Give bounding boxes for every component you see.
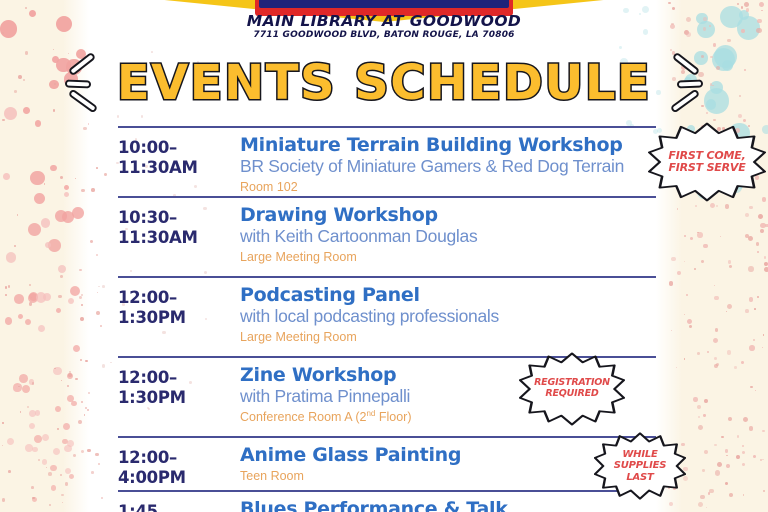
decorative-dot <box>87 409 88 410</box>
decorative-dot <box>742 463 745 466</box>
event-time: 10:30– 11:30AM <box>118 205 236 248</box>
library-address: 7711 GOODWOOD BLVD, BATON ROUGE, LA 7080… <box>0 30 768 40</box>
decorative-dot <box>749 426 754 431</box>
decorative-dot <box>67 395 74 402</box>
decorative-dot <box>96 311 100 315</box>
decorative-dot <box>41 218 50 227</box>
event-details: Drawing Workshop with Keith Cartoonman D… <box>236 205 656 265</box>
event-time: 10:00– 11:30AM <box>118 135 236 178</box>
decorative-dot <box>91 188 95 192</box>
decorative-dot <box>694 268 696 270</box>
decorative-dot <box>60 474 62 476</box>
event-row: 12:00– 1:30PM Podcasting Panel with loca… <box>118 276 656 356</box>
decorative-dot <box>97 292 98 293</box>
headline-row: EVENTS SCHEDULE <box>0 52 768 114</box>
decorative-dot <box>85 407 87 409</box>
decorative-dot <box>6 252 16 262</box>
event-room: Large Meeting Room <box>240 247 656 265</box>
decorative-dot <box>721 436 723 438</box>
event-subtitle: BR Society of Miniature Gamers & Red Dog… <box>240 156 656 177</box>
logo-plate-inner <box>259 0 509 8</box>
decorative-dot <box>68 298 74 304</box>
decorative-dot <box>695 205 697 207</box>
decorative-dot <box>713 43 716 46</box>
decorative-dot <box>81 189 84 192</box>
decorative-dot <box>60 275 63 278</box>
event-time: 12:00– 1:30PM <box>118 285 236 328</box>
decorative-dot <box>110 362 112 364</box>
decorative-dot <box>67 385 69 387</box>
event-time-line2: 1:30PM <box>118 308 236 328</box>
decorative-dot <box>757 296 759 298</box>
decorative-dot <box>32 382 34 384</box>
decorative-dot <box>693 397 697 401</box>
decorative-dot <box>42 459 47 464</box>
decorative-dot <box>83 127 87 131</box>
decorative-dot <box>14 245 16 247</box>
badge-line2: SUPPLIES <box>614 460 667 471</box>
decorative-dot <box>87 449 91 453</box>
decorative-dot <box>69 371 71 373</box>
decorative-dot <box>29 284 31 286</box>
decorative-dot <box>684 261 685 262</box>
decorative-dot <box>28 223 41 236</box>
decorative-dot <box>748 266 753 271</box>
event-subtitle: with local podcasting professionals <box>240 306 656 327</box>
decorative-dot <box>742 451 745 454</box>
decorative-dot <box>48 472 52 476</box>
decorative-dot <box>760 459 762 461</box>
decorative-dot <box>29 302 33 306</box>
decorative-dot <box>734 366 737 369</box>
decorative-dot <box>744 2 749 7</box>
decorative-dot <box>762 430 764 432</box>
decorative-dot <box>749 297 753 301</box>
decorative-dot <box>669 281 673 285</box>
decorative-dot <box>71 401 76 406</box>
decorative-dot <box>55 406 61 412</box>
decorative-dot <box>22 385 30 393</box>
decorative-dot <box>2 422 3 423</box>
decorative-dot <box>65 482 68 485</box>
decorative-dot <box>64 192 69 197</box>
decorative-dot <box>80 317 84 321</box>
decorative-dot <box>64 445 71 452</box>
decorative-dot <box>98 286 99 287</box>
decorative-dot <box>96 254 98 256</box>
badge-line3: LAST <box>626 472 653 483</box>
decorative-dot <box>757 251 759 253</box>
decorative-dot <box>102 285 105 288</box>
decorative-dot <box>58 265 66 273</box>
decorative-dot <box>63 423 70 430</box>
event-title: Drawing Workshop <box>240 205 656 226</box>
badge-line2: REQUIRED <box>545 388 598 399</box>
decorative-dot <box>702 469 704 471</box>
decorative-dot <box>742 445 744 447</box>
event-room: Large Meeting Room <box>240 327 656 345</box>
decorative-dot <box>31 486 34 489</box>
while-supplies-last-badge: WHILE SUPPLIES LAST <box>594 432 686 500</box>
event-title: Miniature Terrain Building Workshop <box>240 135 656 156</box>
event-time: 1:45 <box>118 499 236 512</box>
badge-line2: FIRST SERVE <box>668 161 745 174</box>
first-come-badge: FIRST COME, FIRST SERVE <box>648 122 766 202</box>
event-details: Podcasting Panel with local podcasting p… <box>236 285 656 345</box>
event-time: 12:00– 4:00PM <box>118 445 236 488</box>
registration-badge-text: REGISTRATION REQUIRED <box>534 378 610 399</box>
page-title: EVENTS SCHEDULE <box>117 59 651 107</box>
event-title: Blues Performance & Talk <box>240 499 656 512</box>
decorative-dot <box>697 352 700 355</box>
decorative-dot <box>720 236 721 237</box>
decorative-dot <box>714 296 718 300</box>
decorative-dot <box>764 267 768 272</box>
decorative-dot <box>29 410 36 417</box>
event-time-line2: 11:30AM <box>118 228 236 248</box>
decorative-dot <box>717 462 722 467</box>
event-row: 1:45 Blues Performance & Talk <box>118 490 656 512</box>
decorative-dot <box>684 235 685 236</box>
decorative-dot <box>737 435 739 437</box>
decorative-dot <box>56 308 61 313</box>
event-room: Room 102 <box>240 177 656 195</box>
decorative-dot <box>68 373 72 377</box>
decorative-dot <box>727 350 732 355</box>
event-time-line1: 12:00– <box>118 288 236 308</box>
event-time-line1: 10:00– <box>118 138 236 158</box>
decorative-dot <box>749 345 754 350</box>
decorative-dot <box>737 3 739 5</box>
decorative-dot <box>758 214 763 219</box>
event-details: Blues Performance & Talk <box>236 499 656 512</box>
event-room-prefix: Conference Room A (2 <box>240 410 366 424</box>
badge-line1: REGISTRATION <box>534 377 610 388</box>
decorative-dot <box>29 423 35 429</box>
decorative-dot <box>698 425 703 430</box>
decorative-dot <box>102 364 105 367</box>
decorative-dot <box>5 286 7 288</box>
decorative-dot <box>726 455 727 456</box>
decorative-dot <box>687 319 692 324</box>
decorative-dot <box>697 405 701 409</box>
events-schedule-poster: MAIN LIBRARY MAIN LIBRARY AT GOODWOOD 77… <box>0 0 768 512</box>
decorative-dot <box>704 450 708 454</box>
decorative-dot <box>91 471 94 474</box>
decorative-dot <box>104 173 107 176</box>
sparkle-left-icon <box>65 54 107 112</box>
decorative-dot <box>32 447 37 452</box>
decorative-dot <box>85 360 87 362</box>
sparkle-right-icon <box>661 54 703 112</box>
decorative-dot <box>36 292 47 303</box>
decorative-dot <box>8 470 11 473</box>
decorative-dot <box>117 115 119 117</box>
decorative-dot <box>728 260 731 263</box>
decorative-dot <box>619 46 623 50</box>
decorative-dot <box>754 308 756 310</box>
event-time-line1: 12:00– <box>118 368 236 388</box>
decorative-dot <box>760 229 764 233</box>
decorative-dot <box>96 167 98 169</box>
decorative-dot <box>50 465 56 471</box>
event-time-line2: 4:00PM <box>118 468 236 488</box>
decorative-dot <box>18 314 23 319</box>
decorative-dot <box>98 463 100 465</box>
decorative-dot <box>741 6 743 8</box>
decorative-dot <box>5 294 7 296</box>
first-come-badge-text: FIRST COME, FIRST SERVE <box>668 150 745 175</box>
decorative-dot <box>697 232 698 233</box>
event-room-suffix: Floor) <box>375 410 411 424</box>
decorative-dot <box>18 386 19 387</box>
event-details: Miniature Terrain Building Workshop BR S… <box>236 135 656 195</box>
decorative-dot <box>703 244 707 248</box>
decorative-dot <box>84 414 86 416</box>
decorative-dot <box>88 392 90 394</box>
decorative-dot <box>764 256 766 258</box>
decorative-dot <box>725 204 729 208</box>
event-time-line1: 12:00– <box>118 448 236 468</box>
registration-required-badge: REGISTRATION REQUIRED <box>519 352 625 426</box>
event-time-line1: 1:45 <box>118 502 236 512</box>
decorative-dot <box>14 294 24 304</box>
decorative-dot <box>90 240 93 243</box>
badge-line1: FIRST COME, <box>668 149 745 162</box>
event-row: 10:30– 11:30AM Drawing Workshop with Kei… <box>118 196 656 276</box>
decorative-dot <box>95 453 98 456</box>
decorative-dot <box>58 295 61 298</box>
decorative-dot <box>75 378 78 381</box>
decorative-dot <box>46 467 47 468</box>
decorative-dot <box>743 417 748 422</box>
decorative-dot <box>79 269 82 272</box>
decorative-dot <box>2 445 3 446</box>
event-subtitle: with Keith Cartoonman Douglas <box>240 226 656 247</box>
decorative-dot <box>700 495 704 499</box>
event-details: Anime Glass Painting Teen Room <box>236 445 656 485</box>
event-time-line2: 11:30AM <box>118 158 236 178</box>
decorative-dot <box>49 504 51 506</box>
decorative-dot <box>141 115 143 117</box>
event-row: 12:00– 4:00PM Anime Glass Painting Teen … <box>118 436 656 490</box>
decorative-dot <box>677 271 681 275</box>
decorative-dot <box>80 359 82 361</box>
event-row: 10:00– 11:30AM Miniature Terrain Buildin… <box>118 126 656 196</box>
badge-line1: WHILE <box>622 449 657 460</box>
library-name: MAIN LIBRARY AT GOODWOOD <box>0 12 768 30</box>
decorative-dot <box>5 317 13 325</box>
decorative-dot <box>3 173 10 180</box>
event-time-line1: 10:30– <box>118 208 236 228</box>
decorative-dot <box>698 502 703 507</box>
decorative-dot <box>19 374 28 383</box>
decorative-dot <box>763 334 765 336</box>
decorative-dot <box>100 325 102 327</box>
event-title: Podcasting Panel <box>240 285 656 306</box>
decorative-dot <box>703 414 705 416</box>
schedule-list: 10:00– 11:30AM Miniature Terrain Buildin… <box>118 126 656 512</box>
decorative-dot <box>53 448 60 455</box>
decorative-dot <box>50 165 56 171</box>
event-time: 12:00– 1:30PM <box>118 365 236 408</box>
event-time-line2: 1:30PM <box>118 388 236 408</box>
decorative-dot <box>101 497 103 499</box>
while-badge-text: WHILE SUPPLIES LAST <box>614 449 667 483</box>
decorative-dot <box>738 114 742 118</box>
decorative-dot <box>2 119 5 122</box>
decorative-dot <box>79 296 82 299</box>
decorative-dot <box>34 435 42 443</box>
decorative-dot <box>72 207 84 219</box>
decorative-dot <box>698 416 700 418</box>
decorative-dot <box>760 223 765 228</box>
decorative-dot <box>714 357 717 360</box>
decorative-dot <box>88 123 90 125</box>
decorative-dot <box>745 309 749 313</box>
decorative-dot <box>57 428 58 429</box>
